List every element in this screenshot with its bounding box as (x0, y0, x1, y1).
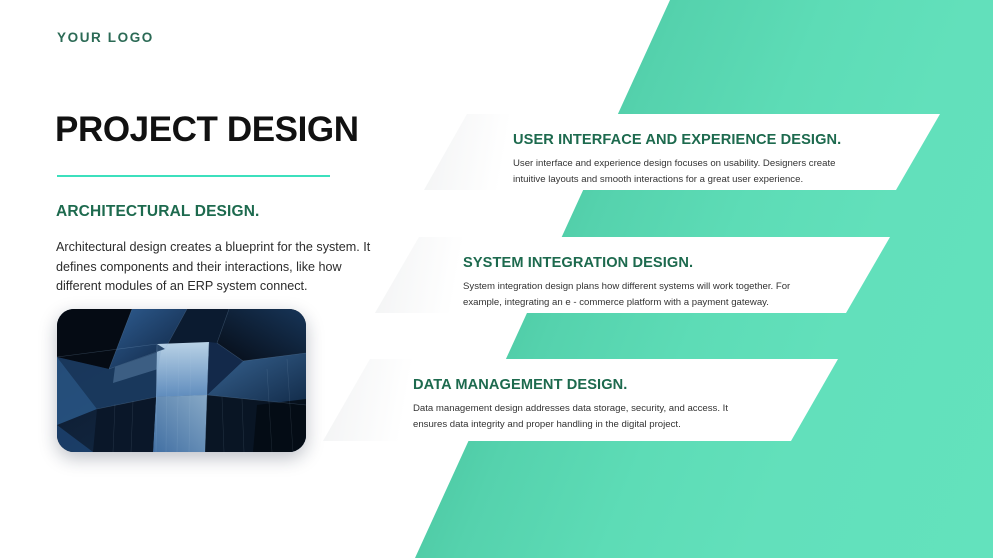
slide-canvas: YOUR LOGO PROJECT DESIGN ARCHITECTURAL D… (0, 0, 993, 558)
brand-logo: YOUR LOGO (57, 30, 154, 45)
card-title-data-management: DATA MANAGEMENT DESIGN. (413, 377, 627, 393)
architectural-design-body: Architectural design creates a blueprint… (56, 238, 386, 297)
page-title: PROJECT DESIGN (55, 112, 359, 149)
card-title-user-interface: USER INTERFACE AND EXPERIENCE DESIGN. (513, 132, 841, 148)
card-body-data-management: Data management design addresses data st… (413, 401, 743, 432)
card-body-user-interface: User interface and experience design foc… (513, 156, 843, 187)
architecture-photo (57, 309, 306, 452)
card-body-system-integration: System integration design plans how diff… (463, 279, 793, 310)
blue-glass-building-illustration (57, 309, 306, 452)
card-title-system-integration: SYSTEM INTEGRATION DESIGN. (463, 255, 693, 271)
title-divider (57, 175, 330, 177)
architectural-design-heading: ARCHITECTURAL DESIGN. (56, 203, 260, 221)
